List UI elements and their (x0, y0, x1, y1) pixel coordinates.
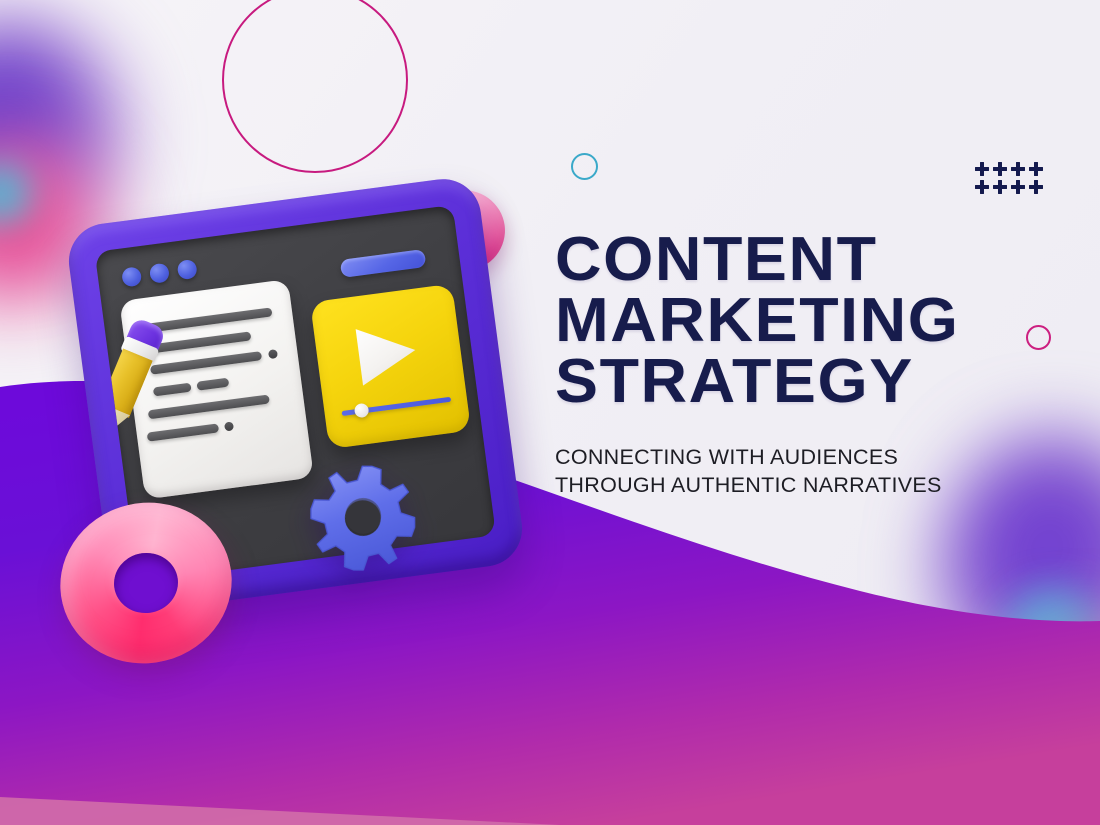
headline-line-3: STRATEGY (555, 352, 1044, 413)
bottom-pink-strip (0, 783, 1100, 825)
pencil-body (99, 348, 152, 418)
plus-icon (973, 160, 991, 178)
play-triangle-icon (352, 319, 422, 389)
plus-icon (991, 178, 1009, 196)
pencil-lead (100, 423, 113, 437)
subtitle-line-2: THROUGH AUTHENTIC NARRATIVES (555, 472, 1025, 499)
presentation-slide: CONTENT MARKETING STRATEGY CONNECTING WI… (0, 0, 1100, 825)
text-line (153, 383, 192, 397)
page-subtitle: CONNECTING WITH AUDIENCES THROUGH AUTHEN… (555, 444, 1025, 499)
text-line (147, 423, 220, 441)
small-cyan-outline-circle (571, 153, 598, 180)
plus-icon (1027, 160, 1045, 178)
headline-line-2: MARKETING (555, 291, 1044, 352)
pencil (95, 317, 167, 439)
gear-icon (298, 452, 428, 582)
blue-dot-icon (177, 259, 198, 280)
plus-sign-grid (973, 160, 1045, 196)
plus-icon (1027, 178, 1045, 196)
blue-pill-bar (340, 249, 427, 278)
text-line-dot (268, 349, 278, 359)
window-dots (121, 259, 198, 288)
text-line (148, 394, 270, 419)
document-card (119, 279, 314, 499)
text-line-dot (224, 421, 234, 431)
plus-icon (973, 178, 991, 196)
content-marketing-3d-illustration (52, 178, 532, 648)
plus-icon (1009, 178, 1027, 196)
plus-icon (991, 160, 1009, 178)
blue-dot-icon (149, 263, 170, 284)
page-title: CONTENT MARKETING STRATEGY (555, 230, 1044, 412)
headline-line-1: CONTENT (555, 230, 1044, 291)
subtitle-line-1: CONNECTING WITH AUDIENCES (555, 444, 1025, 471)
video-progress-knob (354, 403, 370, 419)
blue-dot-icon (121, 266, 142, 287)
plus-icon (1009, 160, 1027, 178)
text-line (196, 378, 229, 391)
text-block: CONTENT MARKETING STRATEGY CONNECTING WI… (555, 230, 1025, 499)
text-line (150, 351, 262, 375)
large-magenta-outline-circle (222, 0, 408, 173)
background-blob-left-cyan (0, 155, 40, 233)
video-player-card (310, 284, 471, 449)
